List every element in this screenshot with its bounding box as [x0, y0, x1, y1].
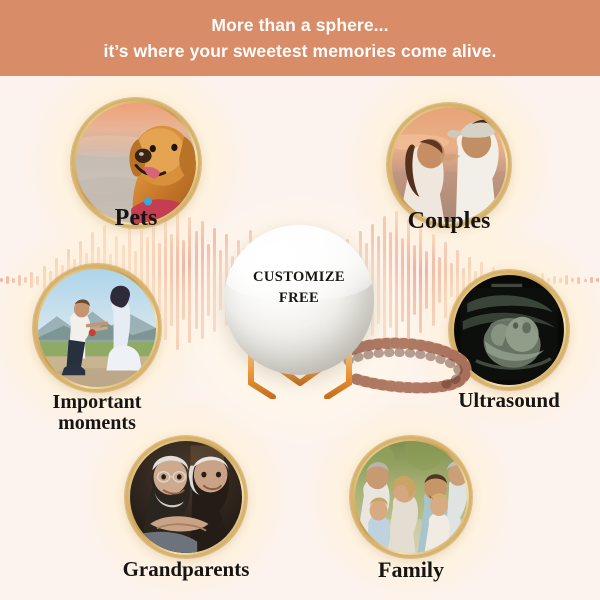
soundwave-bar [195, 231, 198, 329]
soundwave-bar [207, 244, 210, 316]
soundwave-bar [170, 234, 173, 326]
category-label-grandparents: Grandparents [86, 558, 286, 580]
soundwave-bar [444, 242, 447, 318]
category-label-couples: Couples [349, 209, 549, 234]
soundwave-bar [36, 276, 39, 285]
soundwave-bar [401, 238, 404, 322]
soundwave-bar [213, 228, 216, 332]
soundwave-bar [24, 277, 27, 283]
soundwave-bar [6, 276, 9, 284]
soundwave-bar [18, 275, 21, 286]
sphere-lamp-body: CUSTOMIZE FREE [224, 225, 374, 375]
category-label-pets: Pets [36, 206, 236, 231]
soundwave-bar [182, 240, 185, 320]
soundwave-bar [30, 272, 33, 288]
soundwave-bar [547, 278, 550, 282]
soundwave-bar [419, 227, 422, 333]
soundwave-bar [450, 263, 453, 297]
product-moon-lamp[interactable]: CUSTOMIZE FREE [224, 225, 374, 410]
soundwave-bar [219, 250, 222, 310]
customize-free-overlay: CUSTOMIZE FREE [224, 267, 374, 308]
multigenerational-family-outdoors-photo [355, 441, 467, 553]
soundwave-bar [407, 219, 410, 341]
category-label-family: Family [311, 558, 511, 581]
header-banner: More than a sphere... it’s where your sw… [0, 0, 600, 76]
soundwave-bar [432, 234, 435, 326]
free-line: FREE [224, 288, 374, 309]
braided-hanging-cord [342, 335, 472, 397]
customize-line: CUSTOMIZE [224, 267, 374, 288]
infographic-canvas: PetsCouplesImportant momentsUltrasoundGr… [0, 0, 600, 600]
elderly-couple-embracing-photo [130, 441, 242, 553]
soundwave-bar [584, 279, 587, 282]
gold-ring-grandparents [125, 436, 247, 558]
soundwave-bar [158, 243, 161, 317]
banner-line-2: it’s where your sweetest memories come a… [104, 42, 497, 60]
soundwave-bar [565, 275, 568, 285]
gold-ring-important-moments [33, 264, 161, 392]
soundwave-bar [438, 257, 441, 303]
gold-ring-family [350, 436, 472, 558]
soundwave-bar [201, 221, 204, 339]
soundwave-bar [425, 251, 428, 309]
couple-embracing-at-sunset-photo [392, 108, 506, 222]
soundwave-bar [164, 220, 167, 340]
soundwave-bar [377, 236, 380, 324]
soundwave-bar [553, 276, 556, 284]
category-label-important-moments: Important moments [0, 392, 197, 434]
soundwave-bar [188, 217, 191, 343]
soundwave-bar [577, 277, 580, 284]
soundwave-bar [413, 245, 416, 315]
marriage-proposal-on-mountain-photo [38, 269, 156, 387]
soundwave-bar [389, 232, 392, 328]
soundwave-bar [590, 277, 593, 283]
soundwave-bar [0, 278, 3, 282]
banner-line-1: More than a sphere... [211, 16, 388, 34]
soundwave-bar [571, 278, 574, 282]
soundwave-bar [12, 278, 15, 283]
soundwave-bar [383, 216, 386, 344]
soundwave-bar [559, 278, 562, 283]
soundwave-bar [596, 278, 599, 282]
